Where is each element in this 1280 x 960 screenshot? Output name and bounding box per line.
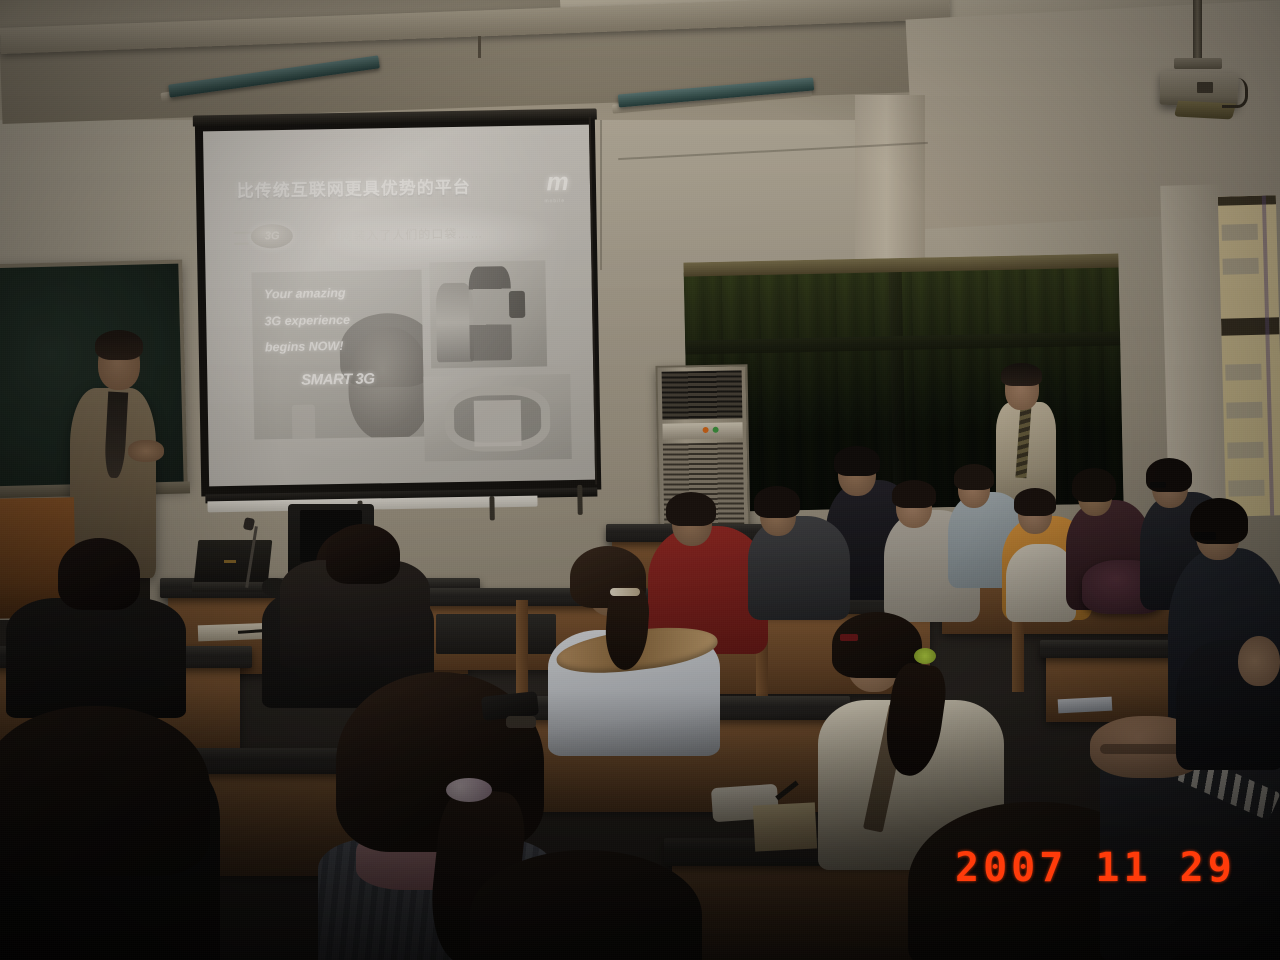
slide-subtitle: 将互联网装入了人们的口袋…… <box>301 224 483 244</box>
desk-eyeglasses-case <box>506 716 536 728</box>
hair-clip-icon <box>610 588 640 596</box>
projector-mount-pole <box>1193 0 1202 62</box>
exterior-building-band <box>1226 364 1262 381</box>
presenter-hands <box>128 440 164 462</box>
screen-pull-strap <box>577 485 583 515</box>
slide-advertisement-image: Your amazing 3G experience begins NOW! S… <box>252 270 425 440</box>
eyeglasses-icon <box>840 634 858 641</box>
student-hair <box>754 486 800 518</box>
photo-figure-secondary <box>435 283 473 362</box>
student-bench <box>436 614 556 654</box>
exterior-building-band <box>1228 442 1264 459</box>
exterior-building-band <box>1223 258 1259 275</box>
observer-hair <box>1001 363 1042 386</box>
laptop-logo-icon <box>224 560 236 563</box>
student-coat <box>6 598 186 718</box>
projection-screen: 比传统互联网更具优势的平台 m mobile 3G 将互联网装入了人们的口袋……… <box>193 109 604 496</box>
window-transom-bar <box>1221 317 1279 336</box>
ad-headline-line-1: Your amazing <box>264 286 346 301</box>
screen-frame: 比传统互联网更具优势的平台 m mobile 3G 将互联网装入了人们的口袋……… <box>195 118 601 497</box>
student-coat <box>748 516 850 620</box>
ad-headline-line-3: begins NOW! <box>265 339 344 354</box>
student-hair <box>1072 468 1116 502</box>
projected-slide: 比传统互联网更具优势的平台 m mobile 3G 将互联网装入了人们的口袋……… <box>203 125 595 487</box>
ad-brand-lockup: SMART 3G <box>301 371 375 389</box>
photo-figure-primary <box>469 266 512 360</box>
operator-hair <box>326 524 400 584</box>
window-with-curtains <box>683 253 1123 512</box>
green-hair-scrunchie-icon <box>914 648 936 664</box>
exterior-building-band <box>1229 480 1265 497</box>
projector-bracket <box>1174 58 1222 69</box>
right-window <box>1218 195 1280 516</box>
screen-strap <box>489 496 494 520</box>
eyeglasses-icon <box>1194 532 1216 540</box>
student-hair <box>58 538 140 610</box>
desk-paper <box>1058 697 1113 714</box>
slide-brand-logo: m <box>546 168 567 197</box>
projector-cable <box>1222 78 1248 108</box>
curtain-shading <box>683 253 1123 512</box>
badge-speed-streak <box>234 242 249 244</box>
classroom-photograph: 比传统互联网更具优势的平台 m mobile 3G 将互联网装入了人们的口袋……… <box>0 0 1280 960</box>
desk-leg <box>516 600 528 696</box>
projector-vent-icon <box>1197 82 1213 93</box>
presenter-hair <box>95 330 143 360</box>
ac-status-led-icon <box>713 427 719 433</box>
student-hair <box>834 446 880 476</box>
ac-power-led-icon <box>703 427 709 433</box>
ceiling-hook <box>478 36 481 58</box>
slide-photo-panel-bottom <box>423 374 571 462</box>
window-head-frame <box>1218 195 1276 206</box>
slide-3g-badge-icon: 3G <box>251 224 293 249</box>
slide-title: 比传统互联网更具优势的平台 <box>237 173 471 202</box>
student-hair <box>0 706 210 876</box>
patterned-hair-tie-icon <box>446 778 492 802</box>
student-head <box>1238 636 1280 686</box>
student-hair <box>892 480 936 508</box>
screen-surface: 比传统互联网更具优势的平台 m mobile 3G 将互联网装入了人们的口袋……… <box>203 125 595 487</box>
desk-notebook <box>753 802 817 851</box>
camera-datestamp: 2007 11 29 <box>955 845 1236 891</box>
ad-headline-line-2: 3G experience <box>264 313 350 328</box>
window-sash-edge <box>1262 196 1274 516</box>
exterior-building-band <box>1222 224 1258 241</box>
photo-handset-icon <box>508 290 525 318</box>
ad-mobile-phone-icon <box>291 405 315 439</box>
photo-device-screen <box>474 400 522 447</box>
exterior-building-band <box>1227 402 1263 419</box>
student-hair <box>666 492 716 526</box>
student-hair <box>954 464 994 490</box>
eyeglasses-icon <box>1150 482 1166 488</box>
wall-seam <box>600 120 602 270</box>
slide-photo-panel-top <box>429 260 547 369</box>
student-hair <box>1014 488 1056 516</box>
ac-upper-grille <box>662 370 743 419</box>
